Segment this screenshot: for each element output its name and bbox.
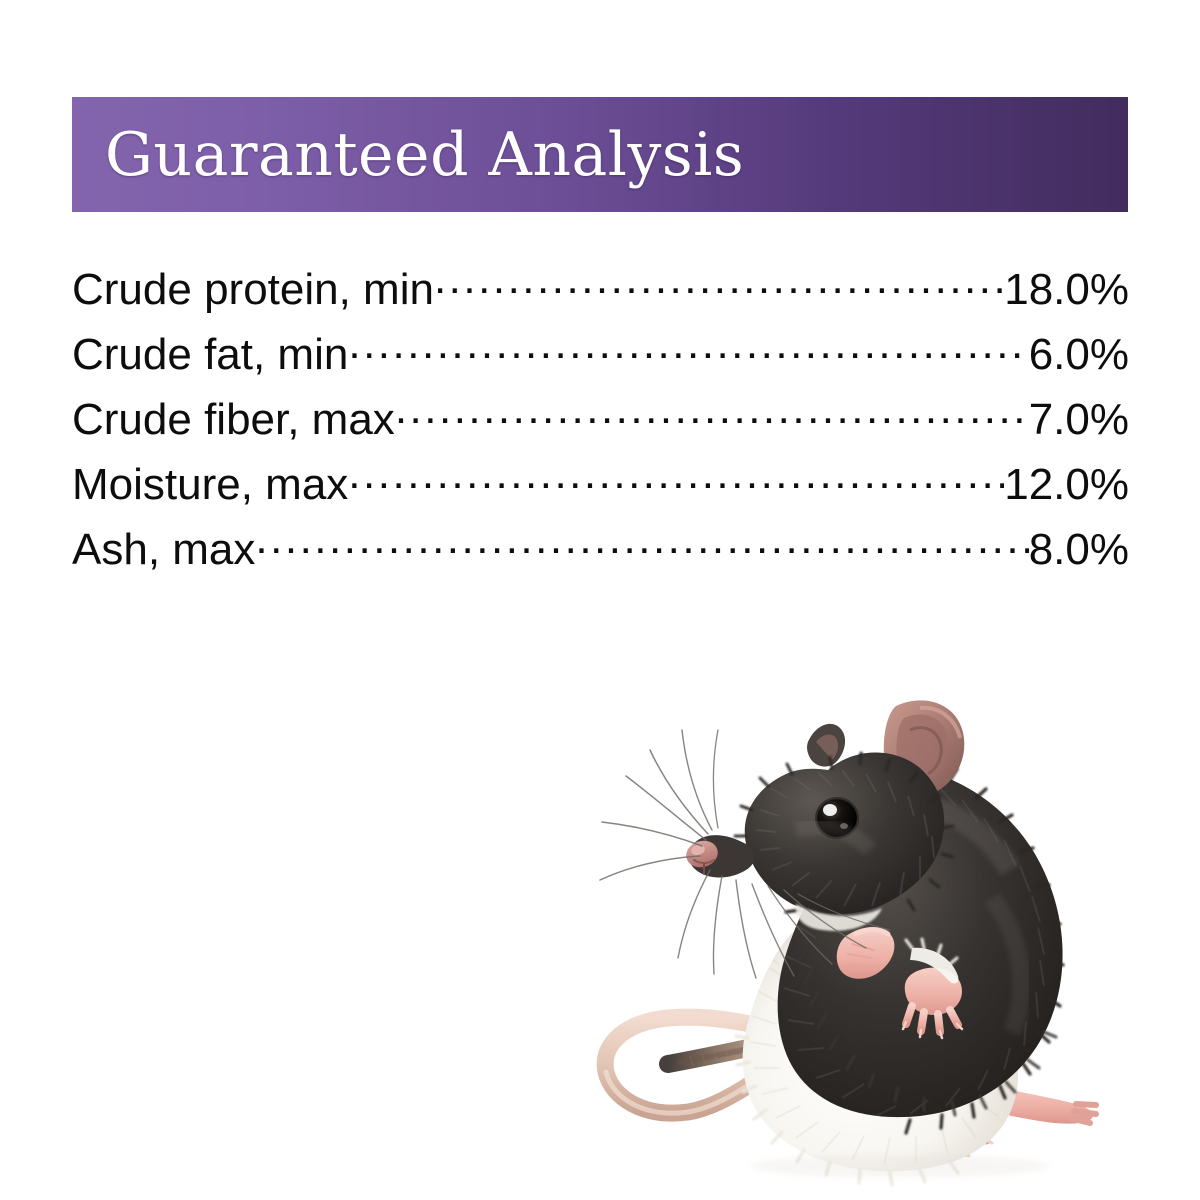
leader-dots <box>348 455 1004 499</box>
table-row: Moisture, max 12.0% <box>72 455 1129 520</box>
guaranteed-analysis-panel: Guaranteed Analysis Crude protein, min 1… <box>0 0 1200 1200</box>
table-row: Crude fiber, max 7.0% <box>72 390 1129 455</box>
rat-illustration <box>560 618 1132 1190</box>
rat-photo <box>560 618 1132 1190</box>
leader-dots <box>434 260 1004 304</box>
row-value: 8.0% <box>1029 525 1129 575</box>
row-label: Moisture, max <box>72 460 348 510</box>
row-value: 18.0% <box>1004 265 1129 315</box>
leader-dots <box>348 325 1028 369</box>
row-label: Crude fiber, max <box>72 395 395 445</box>
table-row: Ash, max 8.0% <box>72 520 1129 585</box>
leader-dots <box>395 390 1029 434</box>
ground-shadow <box>750 1154 1050 1178</box>
table-row: Crude fat, min 6.0% <box>72 325 1129 390</box>
guaranteed-analysis-header: Guaranteed Analysis <box>72 97 1128 212</box>
row-value: 6.0% <box>1029 330 1129 380</box>
leader-dots <box>255 520 1028 564</box>
table-row: Crude protein, min 18.0% <box>72 260 1129 325</box>
page-title: Guaranteed Analysis <box>105 125 744 185</box>
row-label: Crude fat, min <box>72 330 348 380</box>
row-value: 7.0% <box>1029 395 1129 445</box>
analysis-table: Crude protein, min 18.0% Crude fat, min … <box>72 260 1129 585</box>
row-label: Ash, max <box>72 525 255 575</box>
row-value: 12.0% <box>1004 460 1129 510</box>
row-label: Crude protein, min <box>72 265 434 315</box>
